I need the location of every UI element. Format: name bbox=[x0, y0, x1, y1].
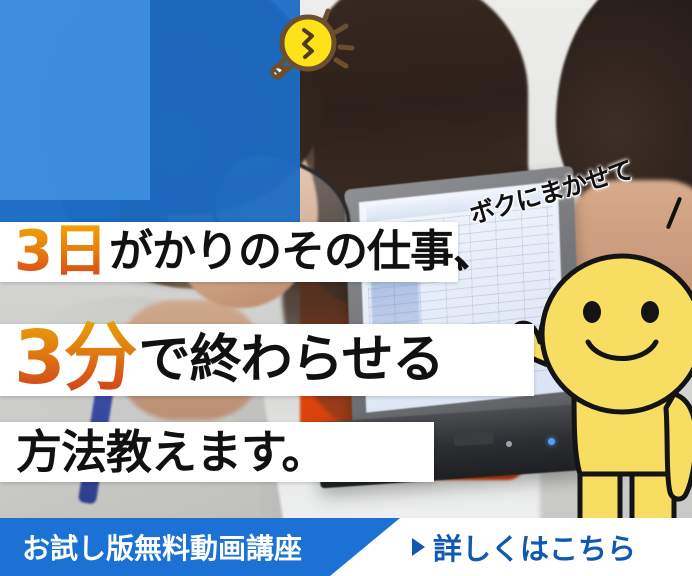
corner-triangle-light bbox=[0, 0, 150, 200]
cta-link[interactable]: 詳しくはこちら bbox=[412, 518, 636, 576]
cta-link-label: 詳しくはこちら bbox=[433, 526, 636, 568]
lightbulb-idea-icon bbox=[258, 6, 356, 84]
play-triangle-icon bbox=[412, 538, 425, 556]
promo-banner: ボクにまかせて 3日 bbox=[0, 0, 692, 576]
headline-1-number: 3日 bbox=[14, 224, 109, 280]
cta-badge[interactable]: お試し版無料動画講座 bbox=[0, 518, 400, 576]
cta-badge-label: お試し版無料動画講座 bbox=[22, 527, 302, 567]
laptop-touchpad bbox=[454, 431, 495, 447]
cta-bar: お試し版無料動画講座 詳しくはこちら bbox=[0, 518, 692, 576]
headline-2-text: で終わらせる bbox=[139, 334, 444, 386]
headline-3-text: 方法教えます。 bbox=[16, 429, 326, 475]
headline-line-3: 方法教えます。 bbox=[0, 422, 434, 482]
headline-1-text: がかりのその仕事、 bbox=[109, 230, 496, 274]
headline-line-1: 3日 がかりのその仕事、 bbox=[0, 222, 458, 282]
headline-line-2: 3分 で終わらせる bbox=[0, 324, 534, 396]
headline-2-number: 3分 bbox=[14, 321, 139, 395]
